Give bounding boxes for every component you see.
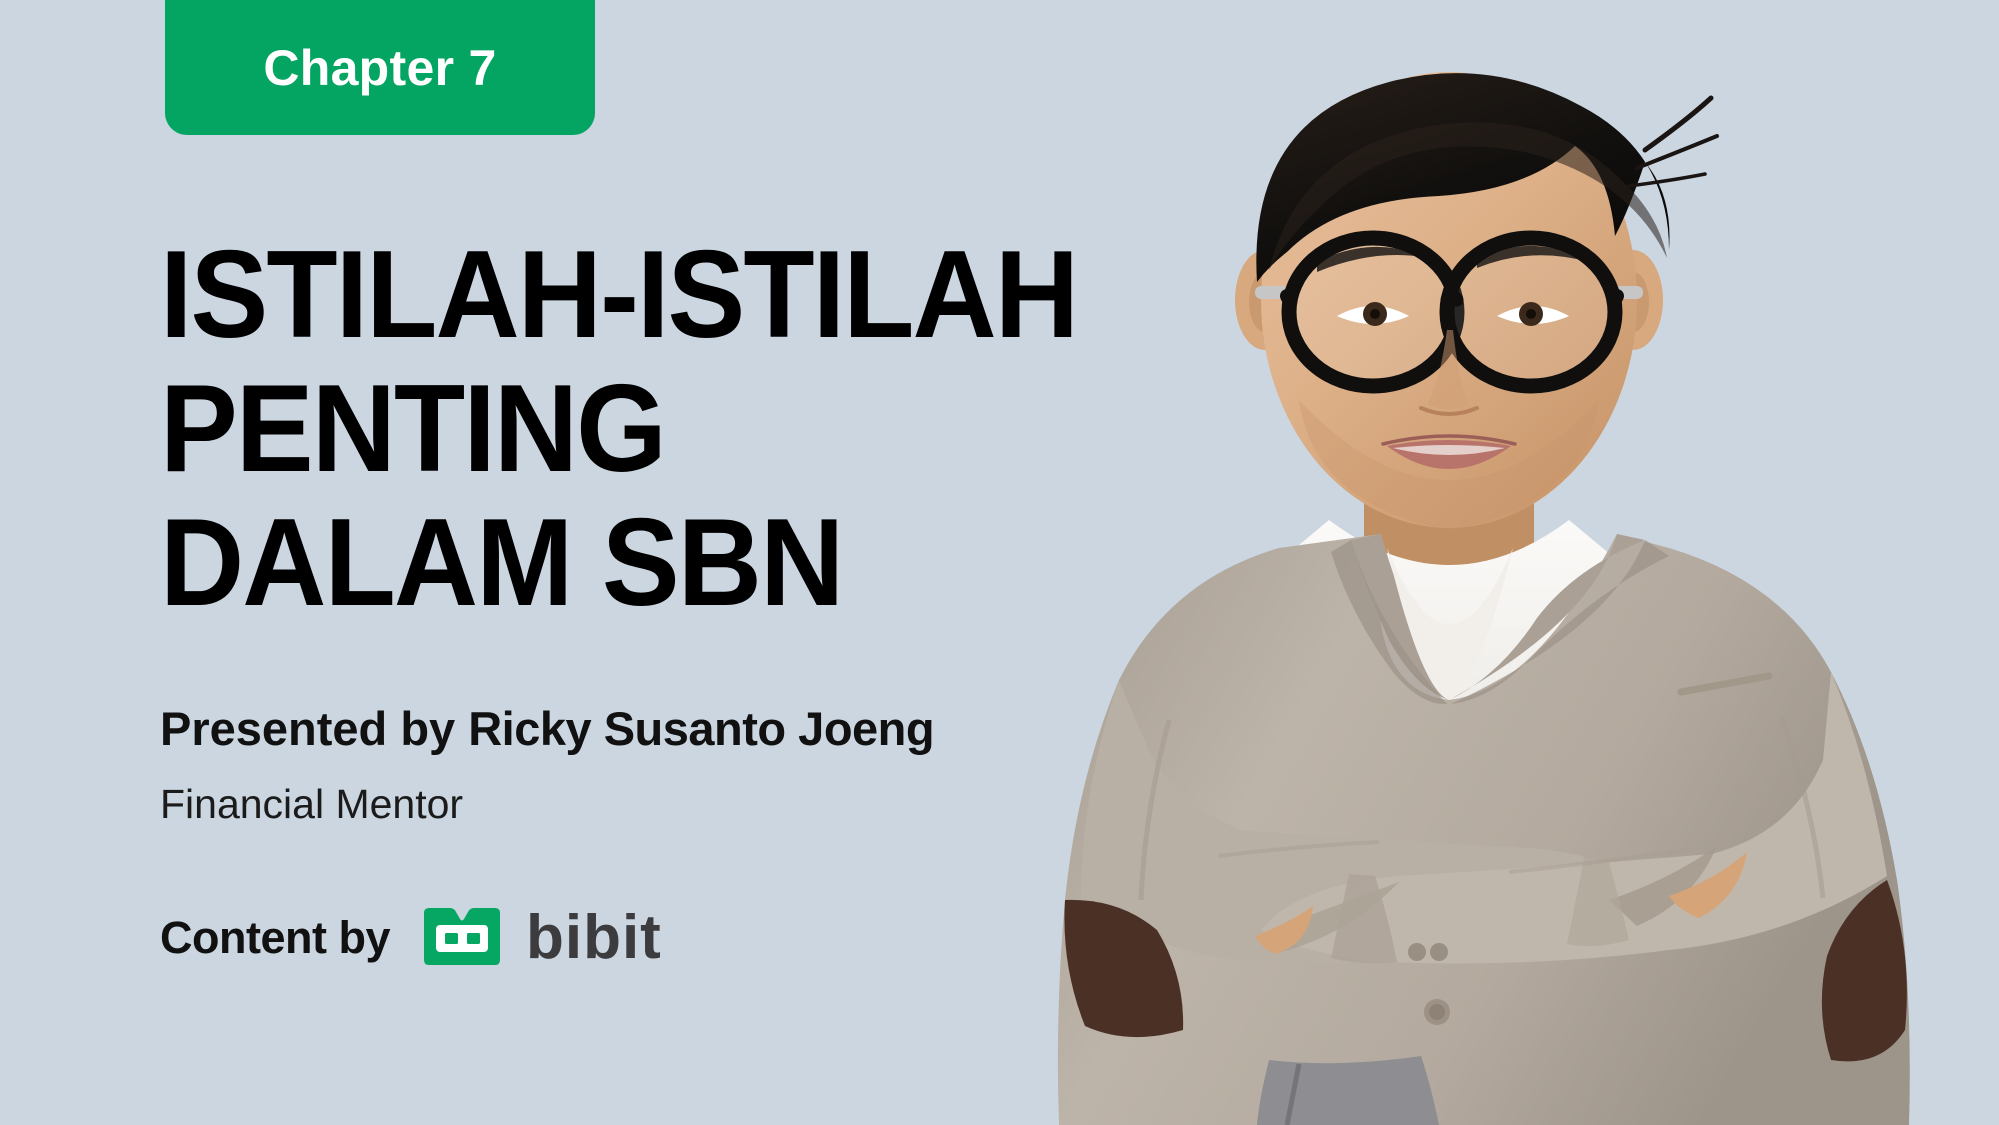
presenter-line: Presented by Ricky Susanto Joeng <box>160 700 934 758</box>
slide-canvas: Chapter 7 ISTILAH-ISTILAH PENTING DALAM … <box>0 0 1999 1125</box>
title-line-3: DALAM SBN <box>160 496 1100 630</box>
presented-by-label: Presented by <box>160 702 468 755</box>
page-title: ISTILAH-ISTILAH PENTING DALAM SBN <box>160 228 1160 630</box>
title-line-1: ISTILAH-ISTILAH <box>160 228 1100 362</box>
bibit-logo-lockup: bibit <box>412 905 662 971</box>
chapter-badge-label: Chapter 7 <box>263 39 496 97</box>
presenter-role: Financial Mentor <box>160 778 463 830</box>
presenter-name: Ricky Susanto Joeng <box>468 702 934 755</box>
bibit-logo-icon <box>412 905 512 971</box>
content-credit: Content by bibit <box>160 903 662 973</box>
title-line-2: PENTING <box>160 362 1100 496</box>
chapter-badge: Chapter 7 <box>165 0 595 135</box>
bibit-wordmark: bibit <box>526 907 662 969</box>
content-by-label: Content by <box>160 912 390 964</box>
